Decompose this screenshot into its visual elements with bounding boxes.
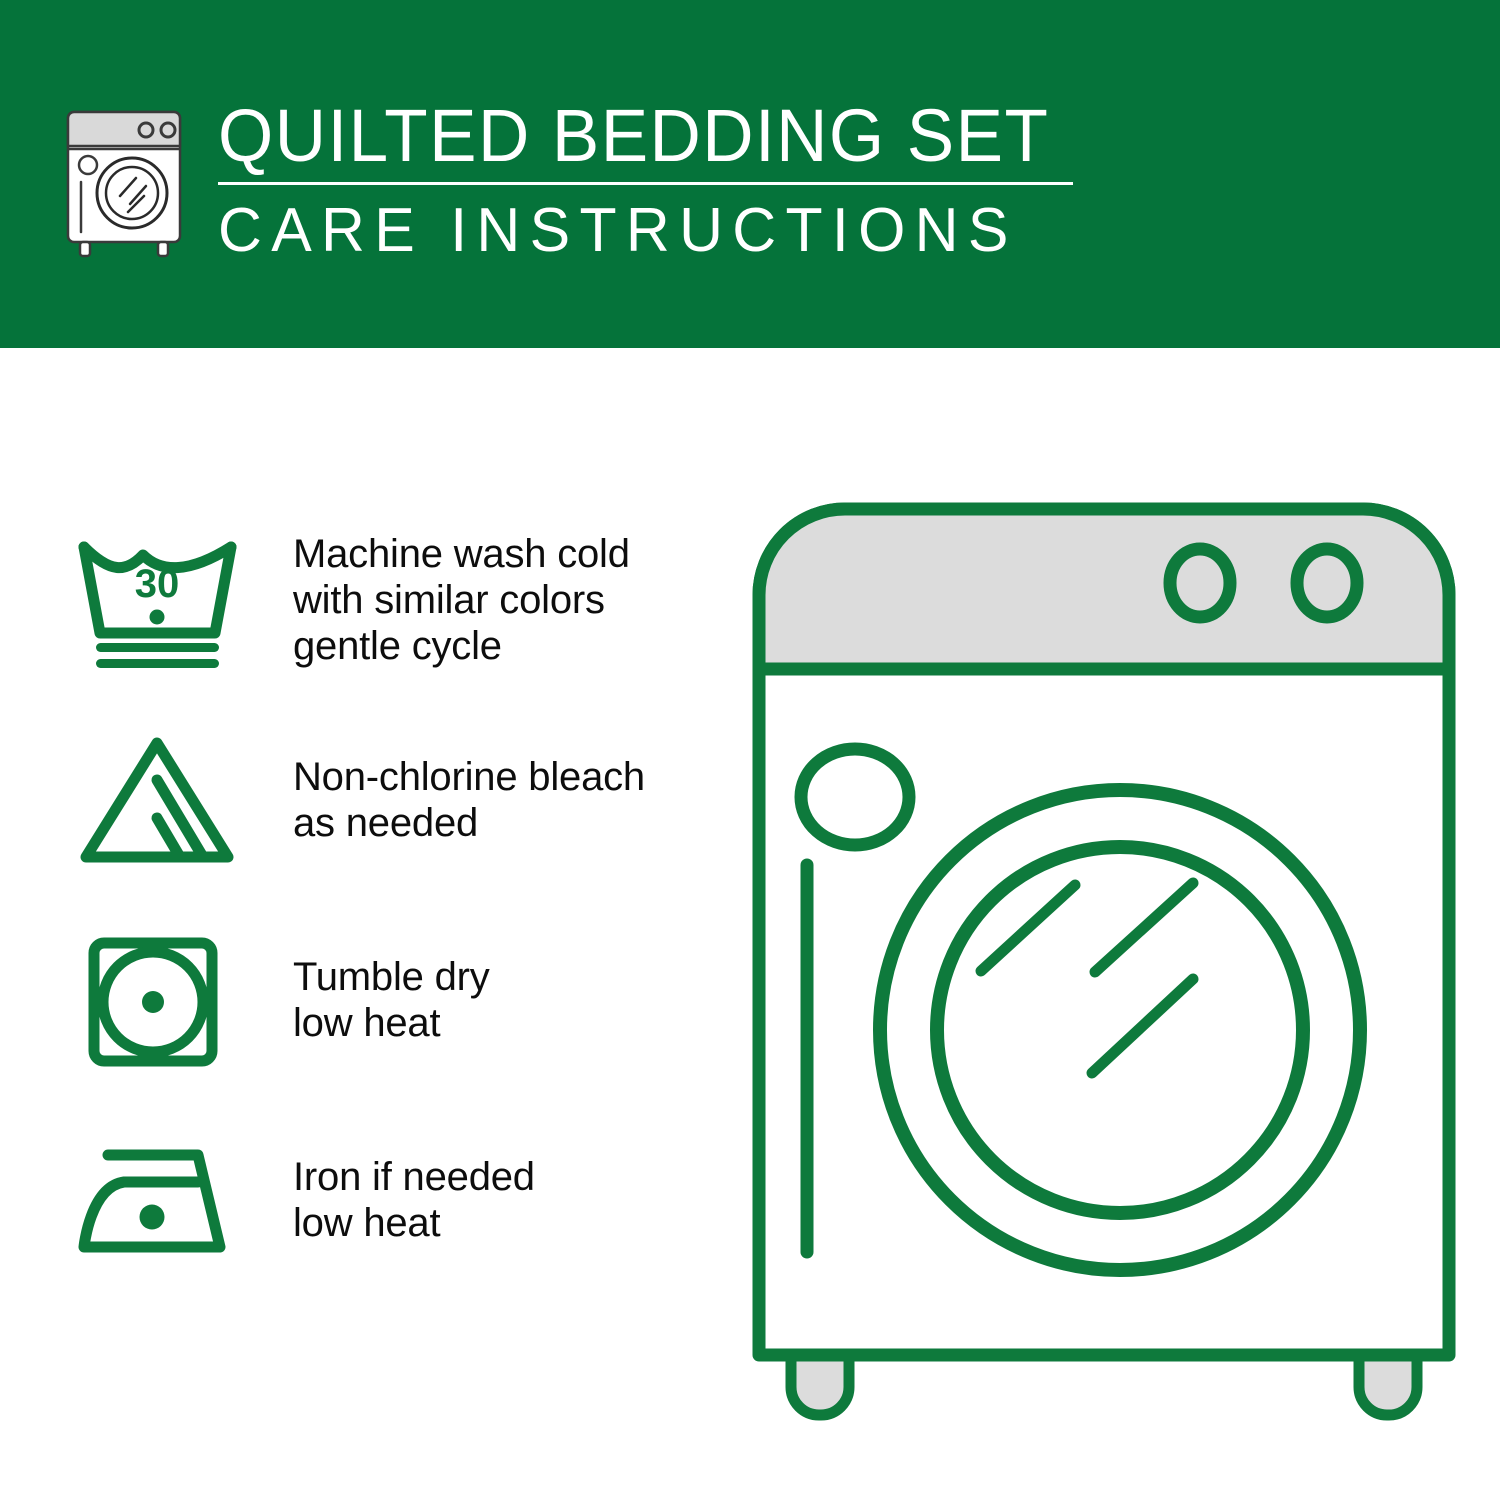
washing-machine-icon (58, 104, 198, 264)
control-panel (759, 509, 1449, 669)
care-label-tumble-dry: Tumble dry low heat (245, 954, 490, 1046)
wash-temperature-value: 30 (135, 562, 180, 606)
care-row-iron: Iron if needed low heat (70, 1100, 710, 1300)
header-band: QUILTED BEDDING SET CARE INSTRUCTIONS (0, 0, 1500, 348)
non-chlorine-bleach-triangle-icon (70, 720, 245, 880)
care-label-line: gentle cycle (293, 623, 630, 669)
care-label-line: Machine wash cold (293, 531, 630, 577)
title-divider (218, 182, 1073, 185)
care-label-bleach: Non-chlorine bleach as needed (245, 754, 645, 846)
care-label-machine-wash: Machine wash cold with similar colors ge… (245, 531, 630, 669)
care-row-tumble-dry: Tumble dry low heat (70, 900, 710, 1100)
header-text-block: QUILTED BEDDING SET CARE INSTRUCTIONS (218, 96, 1078, 267)
washing-machine-illustration (745, 495, 1465, 1425)
care-row-bleach: Non-chlorine bleach as needed (70, 700, 710, 900)
care-label-line: as needed (293, 800, 645, 846)
care-instructions-page: QUILTED BEDDING SET CARE INSTRUCTIONS 30 (0, 0, 1500, 1500)
care-instruction-list: 30 Machine wash cold with similar colors… (70, 500, 710, 1300)
header-content: QUILTED BEDDING SET CARE INSTRUCTIONS (58, 96, 1058, 276)
tumble-dry-low-icon (70, 920, 245, 1080)
care-label-line: low heat (293, 1000, 490, 1046)
care-label-line: Non-chlorine bleach (293, 754, 645, 800)
care-label-line: Tumble dry (293, 954, 490, 1000)
page-title: QUILTED BEDDING SET (218, 96, 1044, 176)
care-label-iron: Iron if needed low heat (245, 1154, 535, 1246)
iron-low-heat-icon (70, 1120, 245, 1280)
care-label-line: low heat (293, 1200, 535, 1246)
care-row-machine-wash: 30 Machine wash cold with similar colors… (70, 500, 710, 700)
care-label-line: with similar colors (293, 577, 630, 623)
wash-tub-30-gentle-icon: 30 (70, 520, 245, 680)
page-subtitle: CARE INSTRUCTIONS (218, 195, 1061, 267)
care-label-line: Iron if needed (293, 1154, 535, 1200)
